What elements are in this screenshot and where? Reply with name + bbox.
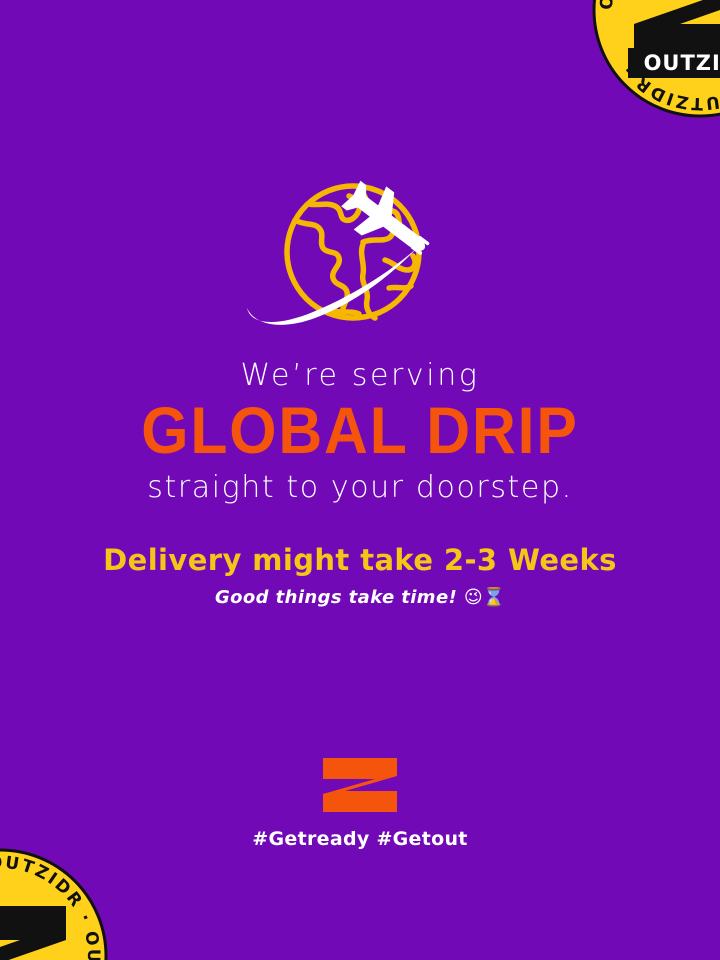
poster-canvas: OUTZIDR · OUTZIDR · OUTZIDR · OUTZIDR · … [0,0,720,960]
footer-block: #Getready #Getout [0,756,720,850]
page-title: GLOBAL DRIP [29,399,691,462]
z-logo-icon [319,756,401,814]
delivery-tagline: Good things take time! 😉⌛ [0,588,720,608]
eyebrow-text: We’re serving [0,360,720,392]
brand-badge-top-right: OUTZIDR · OUTZIDR · OUTZIDR · OUTZIDR · … [588,0,720,122]
subtitle-text: straight to your doorstep. [0,472,720,504]
globe-airplane-icon [235,176,485,336]
wink-hourglass-emoji: 😉⌛ [464,587,505,608]
brand-badge-bottom-left: OUTZIDR · OUTZIDR · OUTZIDR · OUTZIDR · … [0,844,112,960]
delivery-tagline-text: Good things take time! [215,587,457,608]
delivery-notice: Delivery might take 2-3 Weeks [0,545,720,577]
hashtags-text: #Getready #Getout [0,828,720,850]
svg-text:OUTZIDR: OUTZIDR [644,51,720,75]
headline-block: We’re serving GLOBAL DRIP straight to yo… [0,360,720,608]
